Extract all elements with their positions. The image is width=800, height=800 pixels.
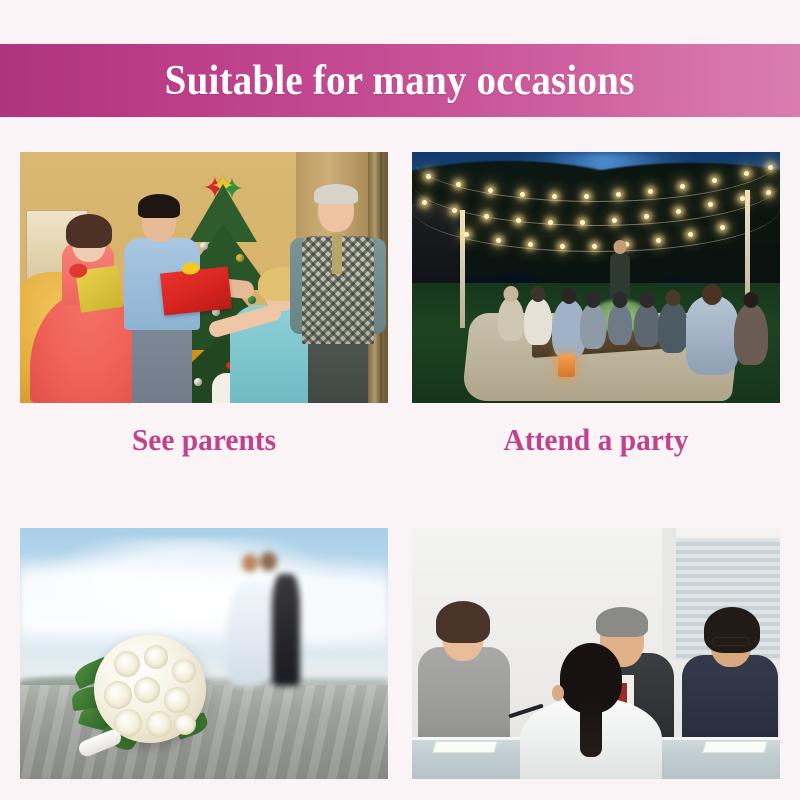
guest — [658, 301, 688, 353]
outdoor-night-party-photo — [412, 152, 780, 403]
grid-row-1: ✦ — [0, 152, 800, 455]
job-candidate-back-view — [520, 643, 662, 779]
document-left — [432, 741, 497, 753]
document-right — [702, 741, 767, 753]
job-interview-photo — [412, 528, 780, 779]
christmas-family-gift-photo: ✦ — [20, 152, 388, 403]
blurred-bride-and-groom — [232, 552, 300, 686]
older-man-in-vest — [292, 178, 384, 403]
guest — [524, 297, 552, 345]
glowing-lantern — [558, 354, 575, 377]
occasion-cell-see-parents[interactable]: ✦ — [20, 152, 388, 455]
guest — [734, 303, 768, 365]
guest — [498, 297, 524, 341]
guest — [580, 303, 606, 349]
glasses-icon — [712, 637, 750, 646]
wedding-bouquet-photo — [20, 528, 388, 779]
white-rose-bouquet — [72, 629, 212, 757]
occasion-cell-interview[interactable]: Interview — [412, 528, 780, 800]
occasion-cell-attend-a-party[interactable]: Attend a party — [412, 152, 780, 455]
grid-row-2: wedding — [0, 528, 800, 800]
interviewer-woman-right — [682, 607, 778, 757]
caption-see-parents: See parents — [29, 424, 379, 455]
guest — [608, 303, 632, 345]
page-title: Suitable for many occasions — [165, 60, 635, 102]
occasions-grid: ✦ — [0, 152, 800, 800]
guest — [634, 303, 660, 347]
occasion-cell-wedding[interactable]: wedding — [20, 528, 388, 800]
caption-attend-a-party: Attend a party — [421, 424, 771, 455]
interviewer-woman-left — [418, 601, 510, 751]
guest — [686, 295, 738, 375]
header-banner: Suitable for many occasions — [0, 44, 800, 117]
